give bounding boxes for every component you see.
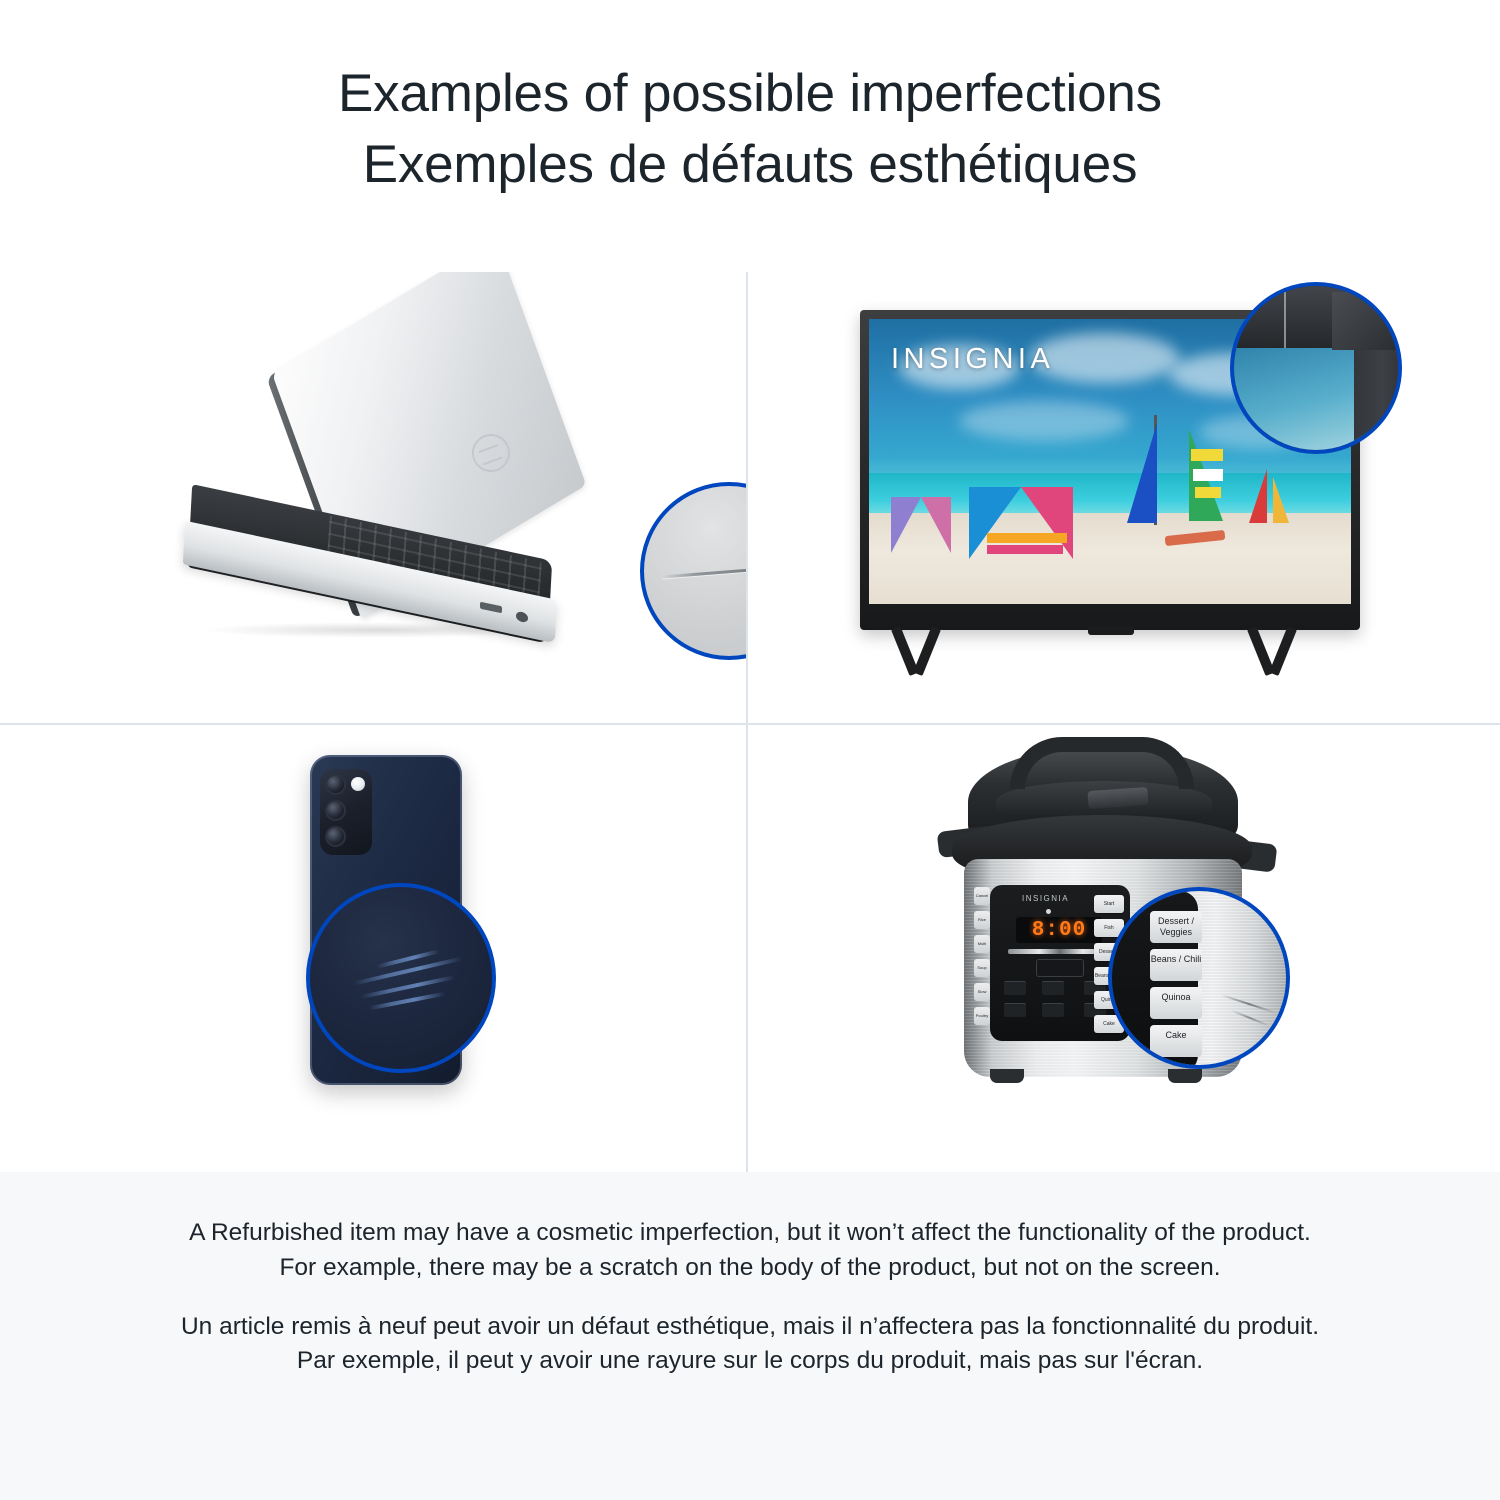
cooker-key-manual[interactable] <box>1004 981 1026 995</box>
tv-stand-right-b <box>1247 626 1275 676</box>
cooker-magnified-button-beans[interactable]: Beans / Chili <box>1150 949 1202 981</box>
camera-lens-icon <box>325 774 346 795</box>
camera-flash-icon <box>351 777 365 791</box>
cooker-button-soup[interactable]: Soup <box>974 959 990 977</box>
cooker-foot-left <box>990 1069 1024 1083</box>
cooker-handle <box>1010 737 1194 789</box>
page-title-french: Exemples de défauts esthétiques <box>0 129 1500 200</box>
page-title: Examples of possible imperfections Exemp… <box>0 58 1500 200</box>
cooker-magnified-button-quinoa[interactable]: Quinoa <box>1150 987 1202 1019</box>
smartphone-illustration <box>0 725 746 1172</box>
tv-stand-left-b <box>891 626 919 676</box>
cooker-magnified-button-cake[interactable]: Cake <box>1150 1025 1202 1057</box>
cooker-sub-display <box>1036 959 1084 977</box>
footer-disclaimer: A Refurbished item may have a cosmetic i… <box>0 1172 1500 1500</box>
television-illustration: INSIGNIA <box>748 272 1500 723</box>
page-title-english: Examples of possible imperfections <box>0 58 1500 129</box>
cooker-key-pressure[interactable] <box>1042 981 1064 995</box>
cooker-magnified-button-dessert[interactable]: Dessert / Veggies <box>1150 911 1202 943</box>
disclaimer-english: A Refurbished item may have a cosmetic i… <box>170 1216 1330 1286</box>
cooker-button-multigrain[interactable]: Multi Grain <box>974 935 990 953</box>
laptop-base <box>178 504 568 622</box>
laptop-magnifier-circle <box>640 482 748 660</box>
cooker-led-value: 8:00 <box>1032 919 1086 942</box>
cooker-button-rice[interactable]: Rice <box>974 911 990 929</box>
camera-lens-icon <box>325 826 346 847</box>
tv-magnified-picture <box>1230 340 1364 454</box>
tv-magnified-bezel-corner <box>1332 292 1402 350</box>
phone-magnifier-circle <box>306 883 496 1073</box>
tv-ir-receiver <box>1088 626 1134 635</box>
refurbished-imperfections-infographic: Examples of possible imperfections Exemp… <box>0 0 1500 1500</box>
cooker-button-poultry[interactable]: Poultry <box>974 1007 990 1025</box>
product-examples-grid: INSIGNIA <box>0 272 1500 1172</box>
cooker-foot-right <box>1168 1069 1202 1083</box>
panel-television: INSIGNIA <box>748 272 1500 725</box>
pressure-cooker-illustration: Cancel Rice Multi Grain Soup Slow Cook P… <box>748 725 1500 1172</box>
laptop-scratch-mark <box>662 565 748 579</box>
panel-smartphone <box>0 725 748 1172</box>
camera-lens-icon <box>325 800 346 821</box>
phone-camera-module <box>320 769 372 855</box>
cooker-brand-logo: INSIGNIA <box>1022 894 1069 903</box>
laptop-illustration <box>0 272 746 723</box>
disclaimer-french: Un article remis à neuf peut avoir un dé… <box>170 1310 1330 1380</box>
tv-bezel-blemish <box>1284 292 1286 348</box>
panel-laptop <box>0 272 748 725</box>
cooker-button-slowcook[interactable]: Slow Cook <box>974 983 990 1001</box>
cooker-led-display: 8:00 <box>1016 917 1102 943</box>
cooker-left-button-column: Cancel Rice Multi Grain Soup Slow Cook P… <box>974 887 990 1037</box>
cooker-key-steam[interactable] <box>1004 1003 1026 1017</box>
cooker-indicator-led <box>1046 909 1051 914</box>
cooker-button-cancel[interactable]: Cancel <box>974 887 990 905</box>
panel-pressure-cooker: Cancel Rice Multi Grain Soup Slow Cook P… <box>748 725 1500 1172</box>
cooker-key-slowcook[interactable] <box>1042 1003 1064 1017</box>
tv-magnifier-circle <box>1230 282 1402 454</box>
cooker-magnifier-circle: Dessert / Veggies Beans / Chili Quinoa C… <box>1108 887 1290 1069</box>
tv-screen-brand-logo: INSIGNIA <box>891 343 1054 376</box>
